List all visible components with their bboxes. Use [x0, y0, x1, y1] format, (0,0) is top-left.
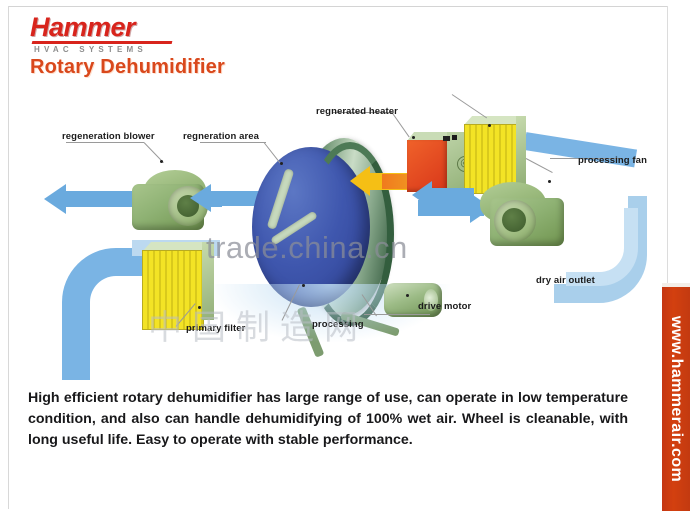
- dot-regen-filter: [488, 124, 491, 127]
- heater-indicator-b: [452, 135, 457, 140]
- product-description: High efficient rotary dehumidifier has l…: [28, 388, 628, 451]
- frame-left-line: [8, 6, 9, 509]
- dot-drive-motor: [406, 294, 409, 297]
- leader-processing-fan-2: [526, 158, 553, 173]
- label-dry-air-outlet: dry air outlet: [536, 275, 595, 286]
- label-regnerated-heater: regnerated heater: [316, 106, 398, 117]
- page-title: Rotary Dehumidifier: [30, 56, 225, 79]
- label-drive-motor: drive motor: [418, 301, 471, 312]
- dot-processing: [302, 284, 305, 287]
- hammer-logo: Hammer HVAC SYSTEMS: [30, 14, 190, 48]
- logo-wordmark: Hammer: [30, 14, 135, 41]
- heater-indicator-a: [443, 136, 450, 141]
- watermark-cjk-text: 中国制造网: [148, 300, 368, 349]
- dot-processing-fan: [548, 180, 551, 183]
- logo-tagline: HVAC SYSTEMS: [34, 45, 147, 54]
- leader-regneration-area: [200, 142, 266, 143]
- dot-regnerated-heater: [412, 136, 415, 139]
- dot-regeneration-blower: [160, 160, 163, 163]
- regen-filter-side-face: [516, 116, 526, 184]
- regeneration-air-arrow-head: [350, 166, 370, 196]
- process-fan-inlet-hole: [502, 208, 526, 232]
- website-url-text: www.hammerair.com: [667, 316, 685, 482]
- label-regeneration-blower: regeneration blower: [62, 131, 155, 142]
- label-processing-fan: processing fan: [578, 155, 647, 166]
- frame-top-line: [8, 6, 668, 7]
- watermark-text: trade.china.cn: [206, 230, 408, 266]
- label-regneration-area: regneration area: [183, 131, 259, 142]
- website-url-bar[interactable]: www.hammerair.com: [662, 287, 690, 511]
- leader-regen-filter: [452, 94, 487, 118]
- logo-underline-bar: [32, 41, 173, 44]
- blower-inlet-arrow-head: [190, 184, 211, 212]
- leader-regeneration-blower: [66, 142, 144, 143]
- dot-regneration-area: [280, 162, 283, 165]
- slide-page: Hammer HVAC SYSTEMS Rotary Dehumidifier: [0, 0, 692, 521]
